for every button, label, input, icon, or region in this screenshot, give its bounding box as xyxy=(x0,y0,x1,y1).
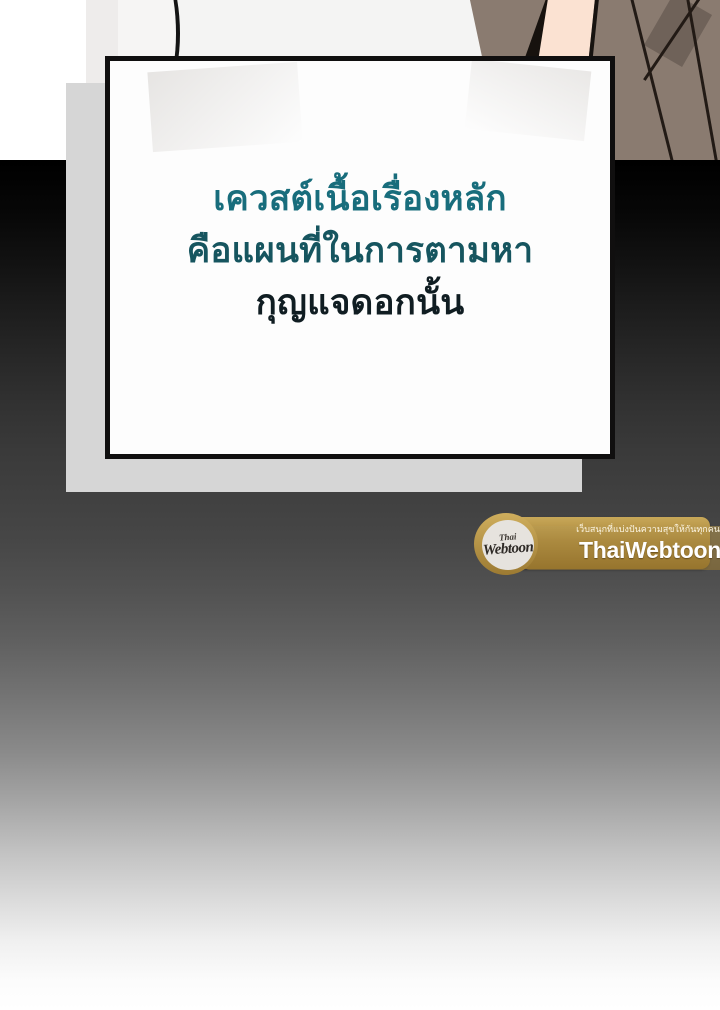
watermark-logo-disc: Thai Webtoon xyxy=(474,513,538,575)
caption-line-1: เควสต์เนื้อเรื่องหลัก xyxy=(213,173,507,225)
watermark-logo-face: Thai Webtoon xyxy=(482,520,534,570)
watermark-brand-text: ThaiWebtoon xyxy=(568,535,720,565)
webtoon-page: เควสต์เนื้อเรื่องหลัก คือแผนที่ในการตามห… xyxy=(0,0,720,1010)
caption-line-3: กุญแจดอกนั้น xyxy=(256,277,465,329)
panel-highlight-streak-left xyxy=(147,62,302,152)
thaiwebtoon-watermark: เว็บสนุกที่แบ่งปันความสุขให้กันทุกคน Tha… xyxy=(472,512,712,576)
caption-panel: เควสต์เนื้อเรื่องหลัก คือแผนที่ในการตามห… xyxy=(105,56,615,459)
caption-line-2: คือแผนที่ในการตามหา xyxy=(187,225,534,277)
watermark-logo-webtoon-text: Webtoon xyxy=(482,540,533,558)
panel-highlight-streak-right xyxy=(465,59,592,141)
